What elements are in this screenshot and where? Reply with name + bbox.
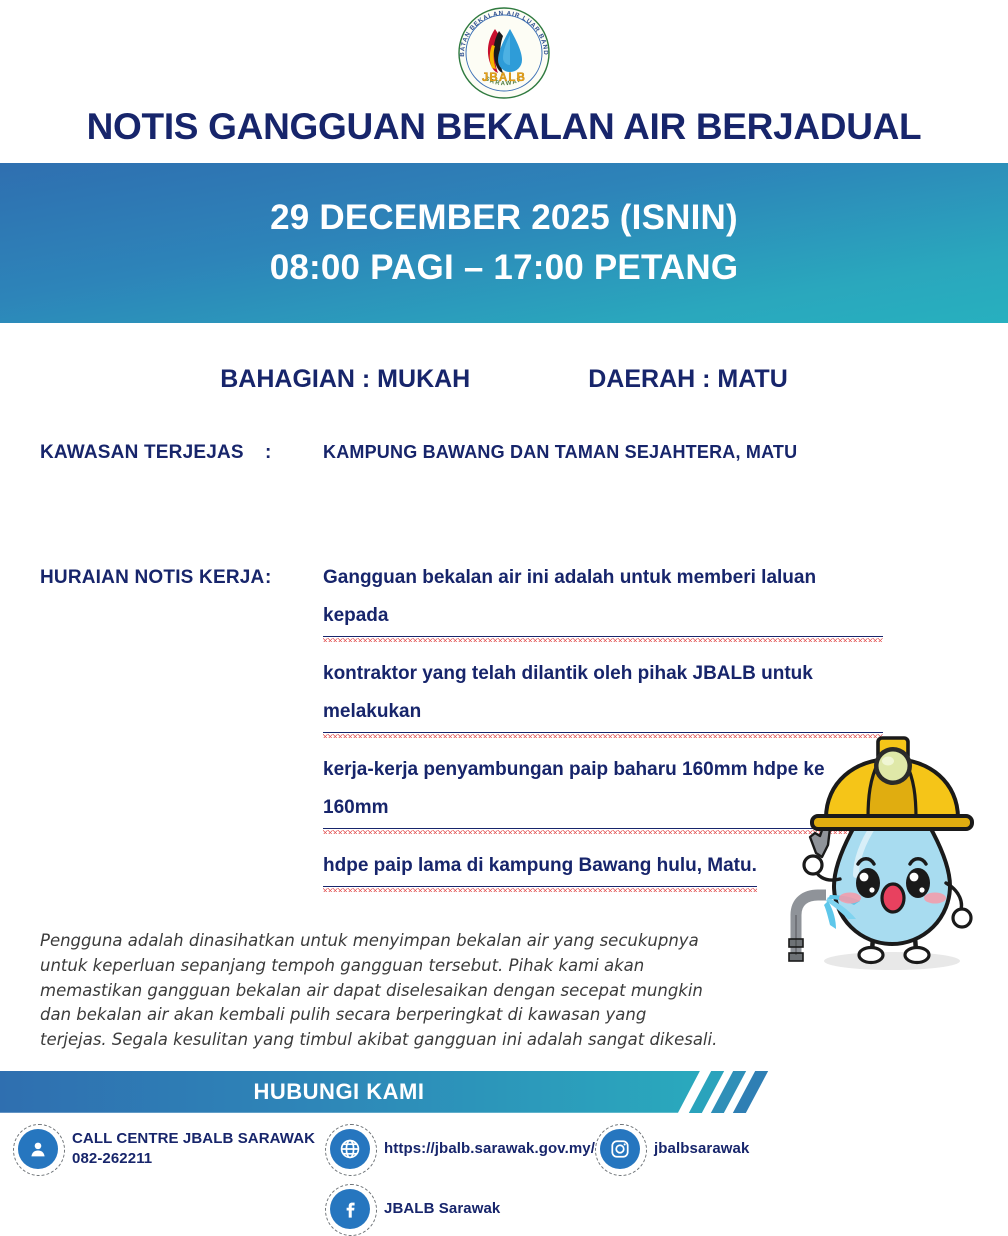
contact-facebook[interactable]: JBALB Sarawak bbox=[330, 1189, 500, 1229]
contact-call-centre[interactable]: CALL CENTRE JBALB SARAWAK 082-262211 bbox=[18, 1129, 315, 1170]
website-url: https://jbalb.sarawak.gov.my/ bbox=[384, 1139, 595, 1159]
facebook-icon bbox=[330, 1189, 370, 1229]
work-description-row: HURAIAN NOTIS KERJA : Gangguan bekalan a… bbox=[20, 464, 988, 905]
region-row: BAHAGIAN : MUKAH DAERAH : MATU bbox=[20, 323, 988, 394]
division-label: BAHAGIAN : MUKAH bbox=[220, 365, 470, 394]
notice-date: 29 DECEMBER 2025 (ISNIN) bbox=[270, 196, 738, 240]
work-description-colon: : bbox=[265, 559, 323, 905]
notice-body: BAHAGIAN : MUKAH DAERAH : MATU KAWASAN T… bbox=[0, 323, 1008, 1053]
contact-bar: HUBUNGI KAMI bbox=[0, 1071, 700, 1113]
person-icon bbox=[18, 1129, 58, 1169]
facebook-handle: JBALB Sarawak bbox=[384, 1199, 500, 1219]
work-description-label: HURAIAN NOTIS KERJA bbox=[20, 559, 265, 905]
logo-header: JABATAN BEKALAN AIR LUAR BANDAR SARAWAK … bbox=[0, 0, 1008, 100]
contact-instagram[interactable]: jbalbsarawak bbox=[600, 1129, 749, 1169]
instagram-handle: jbalbsarawak bbox=[654, 1139, 749, 1159]
contact-bar-wrap: HUBUNGI KAMI bbox=[0, 1071, 1008, 1113]
work-description-value: Gangguan bekalan air ini adalah untuk me… bbox=[323, 559, 883, 905]
affected-area-label: KAWASAN TERJEJAS bbox=[20, 442, 265, 464]
globe-icon bbox=[330, 1129, 370, 1169]
affected-area-value: KAMPUNG BAWANG DAN TAMAN SEJAHTERA, MATU bbox=[323, 442, 797, 464]
work-description-line: kerja-kerja penyambungan paip baharu 160… bbox=[323, 751, 883, 829]
affected-area-row: KAWASAN TERJEJAS : KAMPUNG BAWANG DAN TA… bbox=[20, 394, 988, 464]
page-title: NOTIS GANGGUAN BEKALAN AIR BERJADUAL bbox=[0, 100, 1008, 163]
advisory-note: Pengguna adalah dinasihatkan untuk menyi… bbox=[20, 905, 988, 1053]
jbalb-sarawak-logo: JABATAN BEKALAN AIR LUAR BANDAR SARAWAK … bbox=[450, 5, 558, 101]
notice-time: 08:00 PAGI – 17:00 PETANG bbox=[270, 246, 739, 290]
contact-website[interactable]: https://jbalb.sarawak.gov.my/ bbox=[330, 1129, 595, 1169]
date-banner: 29 DECEMBER 2025 (ISNIN) 08:00 PAGI – 17… bbox=[0, 163, 1008, 323]
contact-bar-label: HUBUNGI KAMI bbox=[254, 1079, 447, 1105]
work-description-line: kontraktor yang telah dilantik oleh piha… bbox=[323, 655, 883, 733]
affected-area-colon: : bbox=[265, 442, 323, 464]
work-description-line: hdpe paip lama di kampung Bawang hulu, M… bbox=[323, 847, 757, 887]
instagram-icon bbox=[600, 1129, 640, 1169]
contact-list: CALL CENTRE JBALB SARAWAK 082-262211 htt… bbox=[0, 1113, 1008, 1223]
svg-text:JBALB: JBALB bbox=[482, 72, 526, 84]
call-centre-name: CALL CENTRE JBALB SARAWAK bbox=[72, 1129, 315, 1149]
district-label: DAERAH : MATU bbox=[588, 365, 788, 394]
call-centre-phone: 082-262211 bbox=[72, 1149, 315, 1169]
work-description-line: Gangguan bekalan air ini adalah untuk me… bbox=[323, 559, 883, 637]
